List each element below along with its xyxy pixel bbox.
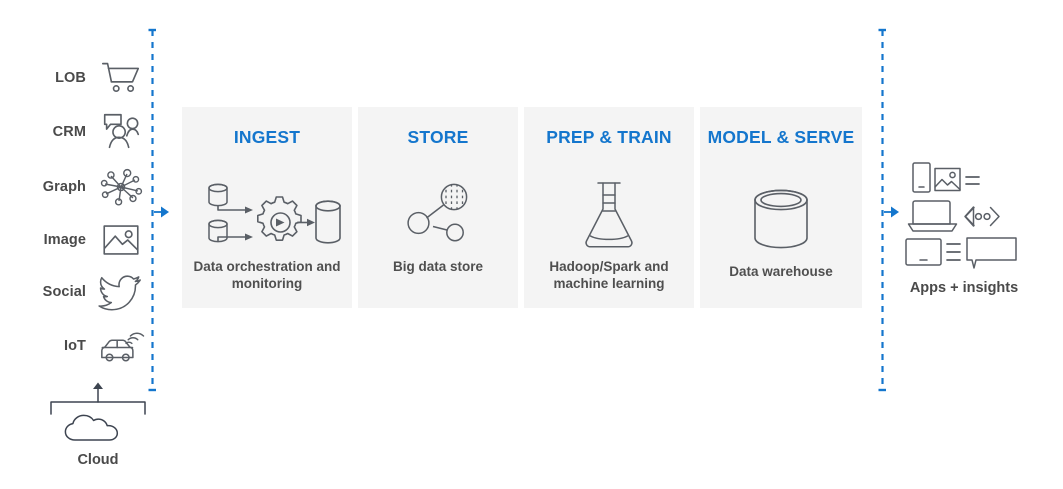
stage-panel-ingest[interactable]: INGEST (182, 107, 352, 308)
source-label: LOB (55, 70, 86, 86)
stage-panel-prep-train[interactable]: PREP & TRAIN Hadoop/Spark and machine le… (524, 107, 694, 308)
source-label: IoT (64, 338, 86, 354)
source-label: CRM (53, 124, 86, 140)
phone-icon (913, 163, 930, 192)
stage-title: MODEL & SERVE (706, 126, 856, 148)
laptop-icon (909, 201, 957, 231)
left-boundary-rail (147, 29, 161, 391)
cloud-bracket-and-icon (40, 378, 156, 454)
data-orchestration-icon (203, 179, 331, 251)
source-item-social: Social (34, 266, 144, 318)
text-lines-icon (947, 244, 960, 260)
stage-caption: Big data store (366, 258, 510, 275)
flask-icon (579, 179, 639, 251)
cloud-label: Cloud (40, 452, 156, 468)
stage-panel-store[interactable]: STORE (358, 107, 518, 308)
source-item-iot: IoT (34, 320, 144, 372)
source-item-lob: LOB (34, 52, 144, 104)
stage-title: INGEST (188, 126, 346, 148)
connected-car-icon (98, 323, 144, 369)
left-rail-line-and-arrow (147, 29, 173, 391)
right-boundary-rail (877, 29, 891, 391)
code-brackets-icon (965, 207, 999, 226)
source-label: Image (44, 232, 86, 248)
database-cylinder-icon (749, 187, 813, 253)
picture-icon (98, 217, 144, 263)
stage-title: PREP & TRAIN (530, 126, 688, 148)
text-lines-icon (966, 177, 979, 184)
cloud-source-group: Cloud (40, 378, 156, 478)
diagram-canvas: LOB CRM (0, 0, 1063, 489)
stage-caption: Hadoop/Spark and machine learning (532, 258, 686, 292)
stage-caption: Data warehouse (708, 263, 854, 280)
source-item-graph: Graph (34, 161, 144, 213)
network-graph-icon (98, 164, 144, 210)
stage-caption: Data orchestration and monitoring (190, 258, 344, 292)
tablet-icon (906, 239, 941, 265)
source-item-image: Image (34, 214, 144, 266)
image-icon (935, 169, 960, 191)
apps-insights-icon-cluster (900, 160, 1028, 276)
source-item-crm: CRM (34, 106, 144, 158)
shopping-cart-icon (98, 55, 144, 101)
twitter-bird-icon (98, 269, 144, 315)
source-label: Graph (43, 179, 86, 195)
apps-insights-group: Apps + insights (900, 160, 1028, 310)
people-chat-icon (98, 109, 144, 155)
apps-insights-label: Apps + insights (882, 280, 1046, 296)
stage-title: STORE (364, 126, 512, 148)
stage-panel-model-serve[interactable]: MODEL & SERVE Data warehouse (700, 107, 862, 308)
source-label: Social (43, 284, 86, 300)
big-data-store-icon (402, 179, 474, 251)
speech-bubble-icon (967, 238, 1016, 268)
